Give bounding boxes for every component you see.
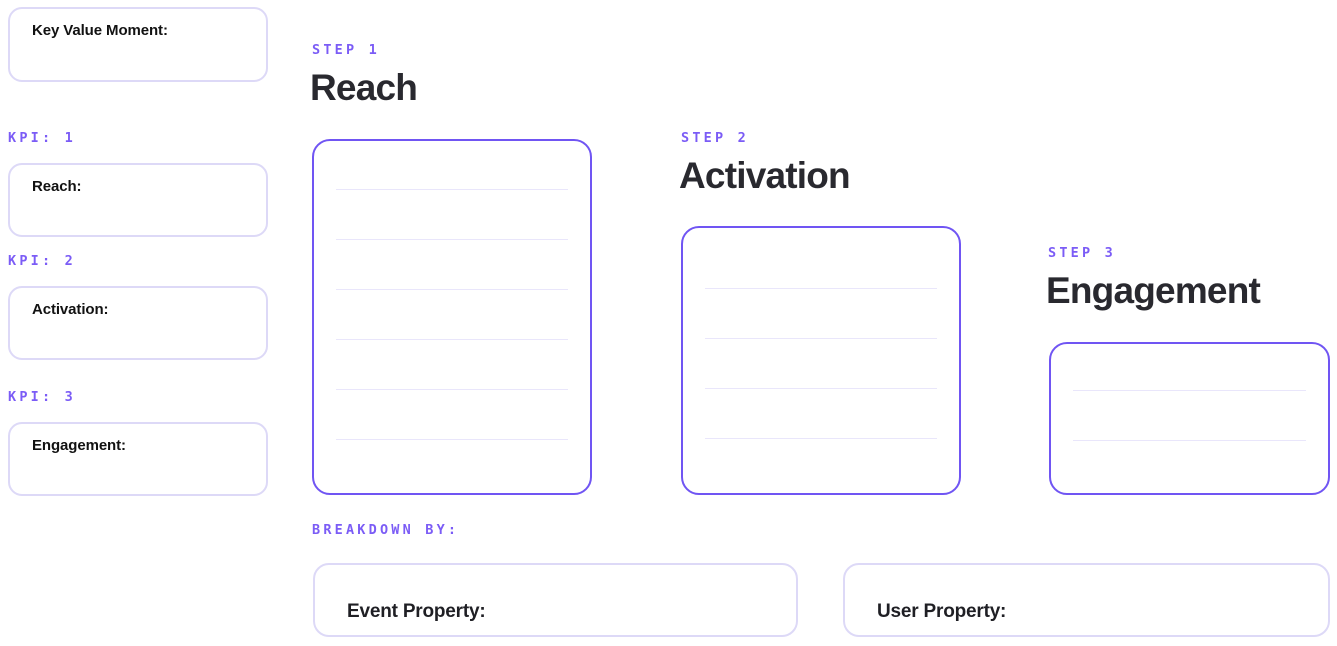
kpi-2-card[interactable]: Activation: [8, 286, 268, 360]
step-2-title: Activation [679, 157, 850, 194]
worksheet-canvas: Key Value Moment: KPI: 1 Reach: KPI: 2 A… [0, 0, 1337, 646]
rule-line [336, 289, 568, 290]
rule-line [336, 389, 568, 390]
kpi-3-label: Engagement: [32, 437, 126, 454]
kpi-1-label: Reach: [32, 178, 81, 195]
kpi-2-label: Activation: [32, 301, 108, 318]
breakdown-by-eyebrow: BREAKDOWN BY: [312, 524, 459, 538]
step-1-eyebrow: STEP 1 [312, 44, 380, 58]
rule-line [705, 288, 937, 289]
kpi-3-card[interactable]: Engagement: [8, 422, 268, 496]
step-1-notes-card[interactable] [312, 139, 592, 495]
key-value-moment-card[interactable]: Key Value Moment: [8, 7, 268, 82]
rule-line [336, 189, 568, 190]
event-property-card[interactable]: Event Property: [313, 563, 798, 637]
user-property-label: User Property: [877, 601, 1006, 623]
rule-line [1073, 390, 1306, 391]
rule-line [705, 338, 937, 339]
rule-line [336, 339, 568, 340]
kpi-3-eyebrow: KPI: 3 [8, 391, 76, 405]
step-3-eyebrow: STEP 3 [1048, 247, 1116, 261]
user-property-card[interactable]: User Property: [843, 563, 1330, 637]
rule-line [336, 239, 568, 240]
rule-line [705, 388, 937, 389]
kpi-2-eyebrow: KPI: 2 [8, 255, 76, 269]
event-property-label: Event Property: [347, 601, 485, 623]
rule-line [705, 438, 937, 439]
step-3-notes-card[interactable] [1049, 342, 1330, 495]
rule-line [336, 439, 568, 440]
step-2-eyebrow: STEP 2 [681, 132, 749, 146]
step-1-title: Reach [310, 69, 417, 106]
kpi-1-card[interactable]: Reach: [8, 163, 268, 237]
step-2-notes-card[interactable] [681, 226, 961, 495]
key-value-moment-label: Key Value Moment: [32, 22, 168, 39]
step-3-title: Engagement [1046, 272, 1260, 309]
rule-line [1073, 440, 1306, 441]
kpi-1-eyebrow: KPI: 1 [8, 132, 76, 146]
